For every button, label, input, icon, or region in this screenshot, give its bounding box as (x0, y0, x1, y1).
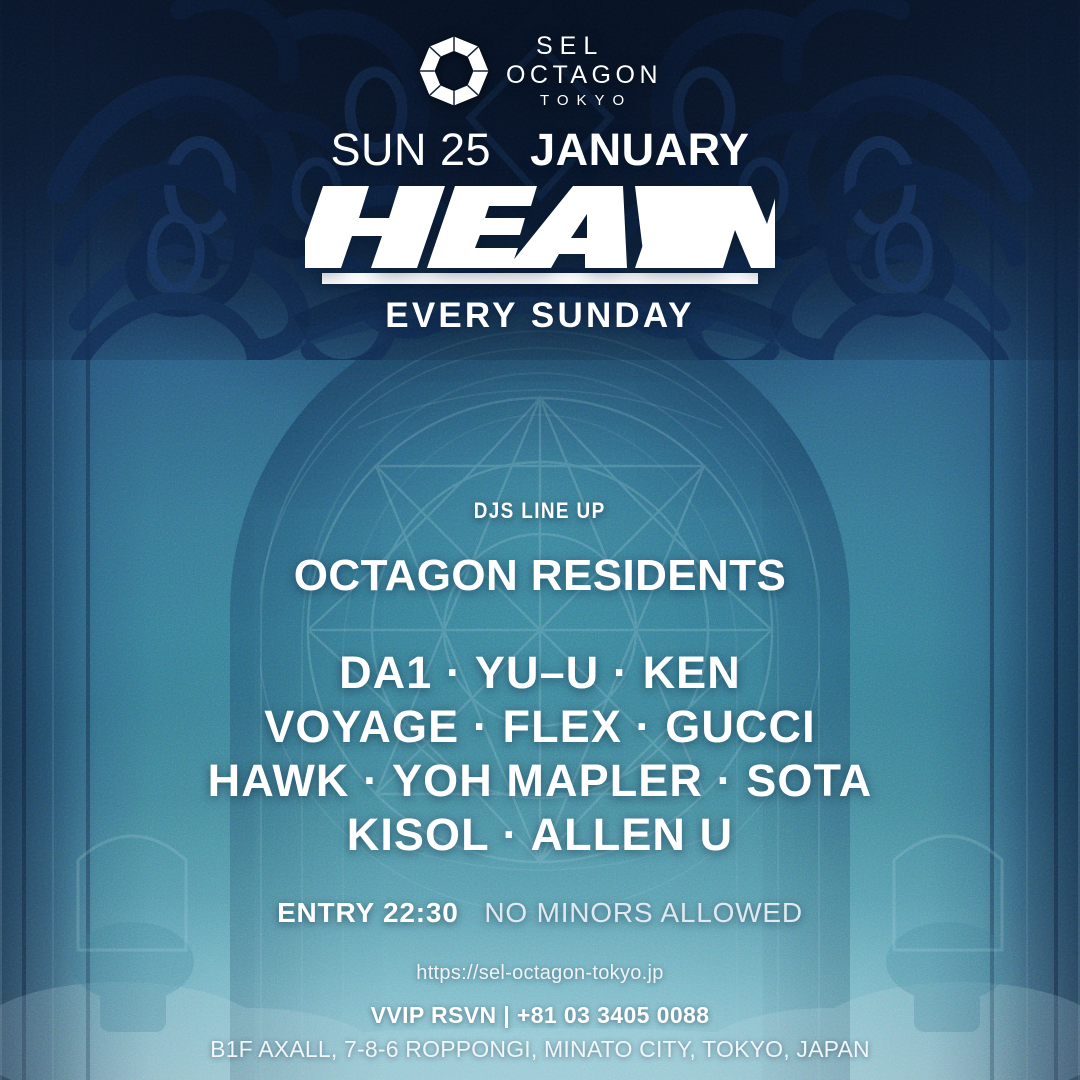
event-title-heaven (305, 178, 775, 276)
entry-info: ENTRY 22:30 NO MINORS ALLOWED (277, 897, 803, 929)
event-date-month: JANUARY (530, 124, 749, 175)
event-frequency: EVERY SUNDAY (385, 296, 694, 336)
brand-logo: SEL OCTAGON TOKYO (418, 34, 662, 108)
lineup-row: DA1 · YU–U · KEN (208, 648, 873, 699)
lineup-row: HAWK · YOH MAPLER · SOTA (208, 756, 873, 807)
lineup-label: DJS LINE UP (474, 498, 606, 524)
reservation-contact[interactable]: VVIP RSVN | +81 03 3405 0088 (371, 1002, 710, 1029)
entry-time: ENTRY 22:30 (277, 897, 459, 928)
brand-line-tokyo: TOKYO (540, 93, 632, 108)
brand-wordmark: SEL OCTAGON TOKYO (506, 34, 662, 108)
octagon-ring-icon (418, 35, 490, 107)
event-date-day: SUN 25 (331, 124, 492, 175)
entry-restriction: NO MINORS ALLOWED (484, 897, 803, 928)
brand-line-sel: SEL (536, 34, 604, 59)
website-url[interactable]: https://sel-octagon-tokyo.jp (416, 962, 663, 985)
venue-address: B1F AXALL, 7-8-6 ROPPONGI, MINATO CITY, … (210, 1036, 870, 1063)
lineup-rows: DA1 · YU–U · KEN VOYAGE · FLEX · GUCCI H… (208, 648, 873, 860)
event-date: SUN 25 JANUARY (331, 124, 750, 176)
event-poster: SEL OCTAGON TOKYO SUN 25 JANUARY (0, 0, 1080, 1080)
lineup-row: KISOL · ALLEN U (208, 810, 873, 861)
lineup-row: VOYAGE · FLEX · GUCCI (208, 702, 873, 753)
poster-content: SEL OCTAGON TOKYO SUN 25 JANUARY (0, 0, 1080, 1080)
brand-line-octagon: OCTAGON (506, 63, 662, 88)
lineup-headliner: OCTAGON RESIDENTS (294, 551, 786, 601)
